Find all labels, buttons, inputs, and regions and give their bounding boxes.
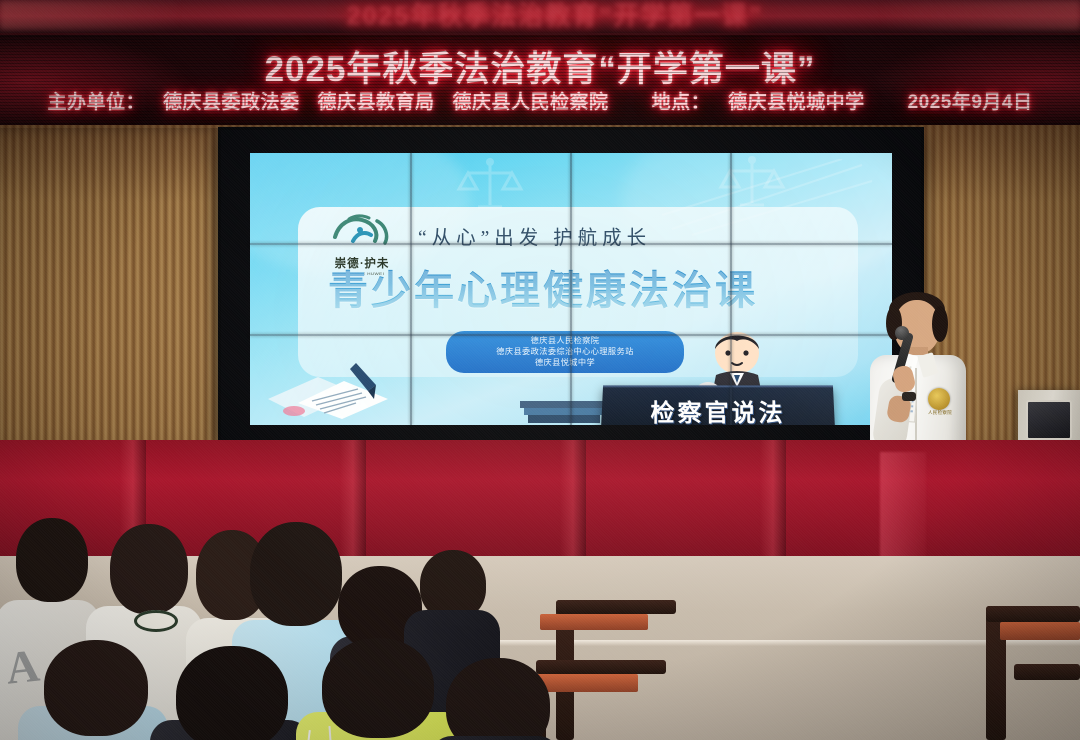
student-head (44, 640, 148, 736)
podium-sign-text: 检察官说法 (602, 393, 834, 425)
speaker-hair-side-right (932, 306, 948, 342)
emblem-caption: 人民检察院 (924, 410, 956, 416)
chongde-huwei-logo-icon (329, 211, 395, 249)
led-banner-subline: 主办单位： 德庆县委政法委 德庆县教育局 德庆县人民检察院 地点： 德庆县悦城中… (0, 87, 1080, 114)
location-value: 德庆县悦城中学 (719, 87, 874, 114)
slide-subtitle: “从心”出发 护航成长 (418, 221, 838, 250)
slide-org-1: 德庆县人民检察院 (446, 335, 684, 346)
location-label: 地点： (618, 87, 720, 114)
books-illustration (518, 395, 610, 425)
organizer-1: 德庆县委政法委 (154, 87, 309, 114)
student-head (110, 524, 188, 614)
banner-reflection: 2025年秋季法治教育“开学第一课” (245, 0, 865, 35)
student-head (16, 518, 88, 602)
led-banner-title: 2025年秋季法治教育“开学第一课” (0, 41, 1080, 92)
organizer-3: 德庆县人民检察院 (444, 87, 618, 114)
equipment-monitor[interactable] (1026, 400, 1072, 440)
speaker-watch (902, 392, 916, 401)
slide-organizations-pill: 德庆县人民检察院 德庆县委政法委综治中心心理服务站 德庆县悦城中学 (446, 331, 684, 373)
organizer-2: 德庆县教育局 (309, 87, 444, 114)
shirt-letter: A (3, 638, 44, 694)
hair-scrunchie (134, 610, 178, 632)
organizer-label: 主办单位： (39, 87, 155, 114)
procuratorate-emblem-icon (928, 388, 950, 410)
student-head (446, 658, 550, 740)
led-banner: 2025年秋季法治教育“开学第一课” 主办单位： 德庆县委政法委 德庆县教育局 … (0, 33, 1080, 129)
video-wall-screen[interactable]: 崇德·护未 CHONGDE HUWEI “从心”出发 护航成长 青少年心理健康法… (250, 153, 892, 425)
slide-org-3: 德庆县悦城中学 (446, 357, 684, 368)
ceiling-glow-left (0, 0, 180, 30)
document-pen-illustration (264, 349, 414, 423)
ceiling-glow-right (880, 0, 1080, 30)
student-audience: A SAN ANTONIO (0, 470, 1080, 740)
slide-title: 青少年心理健康法治课 (328, 258, 868, 316)
scales-of-justice-icon (450, 157, 530, 211)
student-head (322, 638, 434, 738)
slide-org-2: 德庆县委政法委综治中心心理服务站 (446, 346, 684, 357)
event-date: 2025年9月4日 (874, 87, 1042, 114)
photo-scene: 2025年秋季法治教育“开学第一课” 2025年秋季法治教育“开学第一课” 主办… (0, 0, 1080, 740)
student-head (176, 646, 288, 740)
student-head (250, 522, 342, 626)
student-body (430, 736, 560, 740)
